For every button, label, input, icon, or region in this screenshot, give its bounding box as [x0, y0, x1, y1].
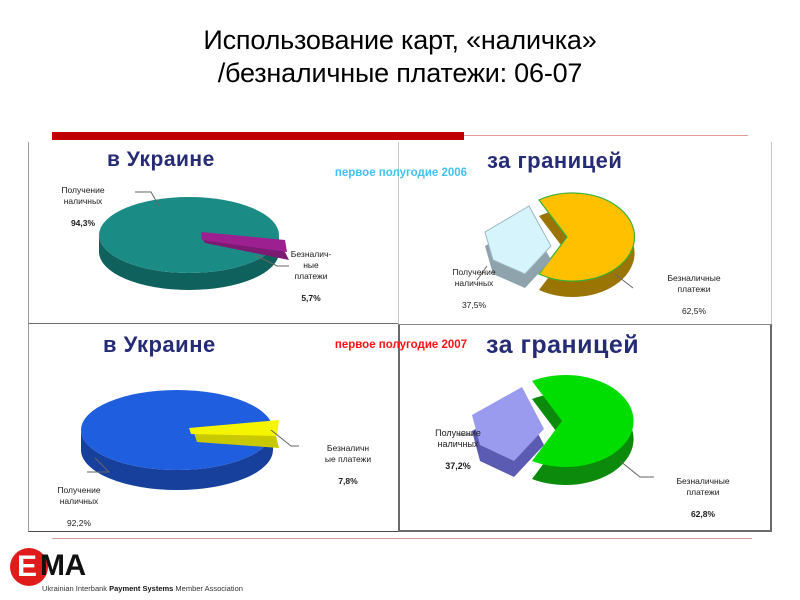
callout-cashless-name-ukraine-2007: Безналичн ые платежи: [325, 443, 371, 464]
period-caption-2006: первое полугодие 2006: [316, 166, 486, 180]
callout-cash-name-ukraine-2006: Получение наличных: [61, 185, 104, 206]
callout-cashless-name-abroad-2006: Безналичные платежи: [667, 273, 720, 294]
period-caption-2007: первое полугодие 2007: [316, 338, 486, 352]
callout-cashless-value-abroad-2007: 62,8%: [691, 509, 715, 519]
callout-cashless-value-ukraine-2006: 5,7%: [301, 293, 320, 303]
callout-cashless-ukraine-2006: Безналич- ные платежи 5,7%: [269, 238, 353, 304]
callout-cashless-abroad-2006: Безналичные платежи 62,5%: [641, 262, 747, 317]
callout-cashless-value-ukraine-2007: 7,8%: [338, 476, 357, 486]
callout-cashless-ukraine-2007: Безналичн ые платежи 7,8%: [303, 432, 393, 487]
callout-cashless-name-abroad-2007: Безналичные платежи: [676, 476, 729, 497]
page-title: Использование карт, «наличка» /безналичн…: [0, 24, 800, 90]
callout-cashless-abroad-2007: Безналичные платежи 62,8%: [652, 465, 754, 520]
callout-cash-value-ukraine-2007: 92,2%: [67, 518, 91, 528]
logo-tagline-part1: Ukrainian Interbank: [42, 584, 109, 593]
title-divider-thin: [464, 135, 748, 136]
callout-cash-name-abroad-2006: Получение наличных: [452, 267, 495, 288]
logo-tagline-part2: Member Association: [173, 584, 243, 593]
chart-heading-ukraine-2006: в Украине: [107, 148, 215, 172]
chart-panel-ukraine-2007: в Украине Получение наличных 92,2% Безна…: [28, 324, 398, 532]
title-divider: [52, 132, 748, 140]
page-title-line-2: /безналичные платежи: 06-07: [0, 57, 800, 90]
logo-letters-ma: MA: [40, 550, 86, 582]
callout-cashless-value-abroad-2006: 62,5%: [682, 306, 706, 316]
title-divider-thick: [52, 132, 464, 140]
ema-logo: E MA Ukrainian Interbank Payment Systems…: [10, 548, 270, 594]
callout-cash-value-abroad-2006: 37,5%: [462, 300, 486, 310]
charts-grid: в Украине Получение наличных 94,3% Безна…: [28, 142, 772, 532]
chart-heading-abroad-2006: за границей: [487, 148, 622, 174]
chart-heading-abroad-2007: за границей: [486, 331, 639, 360]
footer-divider: [52, 538, 752, 539]
leader-line-cashless-abroad-2007: [620, 461, 654, 477]
callout-cash-name-abroad-2007: Получение наличных: [435, 428, 481, 449]
logo-tagline-bold: Payment Systems: [109, 584, 173, 593]
callout-cashless-name-ukraine-2006: Безналич- ные платежи: [291, 249, 331, 281]
logo-letter-e: E: [17, 552, 37, 582]
callout-cash-value-abroad-2007: 37,2%: [445, 461, 471, 471]
callout-cash-value-ukraine-2006: 94,3%: [71, 218, 95, 228]
callout-cash-abroad-2006: Получение наличных 37,5%: [429, 256, 519, 311]
page-title-line-1: Использование карт, «наличка»: [203, 25, 596, 55]
callout-cash-name-ukraine-2007: Получение наличных: [57, 485, 100, 506]
chart-panel-abroad-2007: за границей Получение наличных 37,2% Без…: [398, 324, 772, 532]
chart-heading-ukraine-2007: в Украине: [103, 332, 216, 358]
logo-tagline: Ukrainian Interbank Payment Systems Memb…: [42, 584, 243, 593]
callout-cash-ukraine-2007: Получение наличных 92,2%: [31, 474, 127, 529]
callout-cash-ukraine-2006: Получение наличных 94,3%: [35, 174, 131, 229]
callout-cash-abroad-2007: Получение наличных 37,2%: [414, 417, 502, 472]
